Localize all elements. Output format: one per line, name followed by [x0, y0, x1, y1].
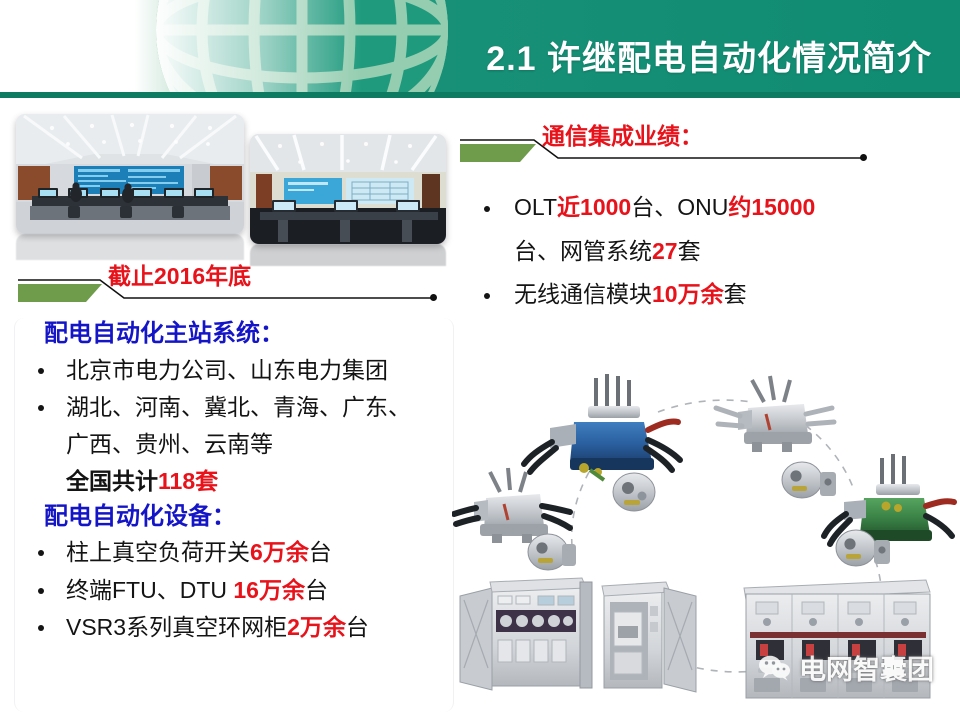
- header-divider-rule: [0, 92, 960, 98]
- equipment-list: 柱上真空负荷开关6万余台 终端FTU、DTU 16万余台 VSR3系列真空环网柜…: [14, 534, 452, 646]
- list-item: 终端FTU、DTU 16万余台: [14, 572, 452, 609]
- text-segment: 台: [346, 614, 369, 640]
- heading-equipment: 配电自动化设备：: [44, 501, 452, 533]
- text-segment: 台、网管系统: [514, 238, 652, 264]
- banner-label-deadline: 截止2016年底: [108, 264, 251, 289]
- globe-graphic: [152, 0, 452, 98]
- highlight-value: 6万余: [250, 539, 309, 565]
- watermark: 电网智囊团: [758, 654, 934, 687]
- list-item-continuation: 广西、贵州、云南等: [14, 426, 452, 463]
- banner-deadline: 截止2016年底: [16, 268, 440, 308]
- banner-label-communication: 通信集成业绩：: [542, 124, 703, 149]
- heading-master-station: 配电自动化主站系统：: [44, 318, 452, 350]
- highlight-value: 10万余: [652, 281, 724, 307]
- banner-endpoint-dot-left: [430, 294, 437, 301]
- text-segment: 全国共计: [66, 468, 158, 494]
- text-segment: 无线通信模块: [514, 281, 652, 307]
- text-segment: 终端FTU、DTU: [66, 577, 233, 603]
- list-item: 北京市电力公司、山东电力集团: [14, 352, 452, 389]
- wechat-icon: [758, 654, 792, 687]
- banner-endpoint-dot-right: [860, 154, 867, 161]
- text-segment: 台: [309, 539, 332, 565]
- equipment-controller-unit-2: [782, 462, 836, 498]
- equipment-controller-unit-1: [613, 473, 655, 511]
- banner-communication: 通信集成业绩：: [458, 128, 870, 168]
- highlight-value: 27: [652, 238, 678, 264]
- page-title: 2.1 许继配电自动化情况简介: [486, 42, 932, 76]
- highlight-value: 16万余: [233, 577, 305, 603]
- text-segment: 台、ONU: [631, 194, 728, 220]
- national-total-line: 全国共计118套: [14, 463, 452, 500]
- watermark-text: 电网智囊团: [799, 657, 934, 684]
- equipment-pole-switch-gray-left: [454, 468, 570, 543]
- highlight-value: 118套: [158, 468, 218, 494]
- equipment-pole-switch-blue: [524, 374, 680, 480]
- list-item: 柱上真空负荷开关6万余台: [14, 534, 452, 571]
- list-item: 无线通信模块10万余套: [458, 273, 950, 317]
- photo-reflection-b: [250, 244, 446, 266]
- text-segment: 台: [305, 577, 328, 603]
- highlight-value: 2万余: [287, 614, 346, 640]
- highlight-value: 约15000: [728, 194, 815, 220]
- list-item-continuation: 台、网管系统27套: [458, 230, 950, 274]
- text-segment: OLT: [514, 194, 557, 220]
- equipment-controller-unit-4: [528, 534, 576, 570]
- photo-control-room-wide: [16, 114, 244, 234]
- highlight-value: 近1000: [557, 194, 631, 220]
- left-content-column: 配电自动化主站系统： 北京市电力公司、山东电力集团 湖北、河南、冀北、青海、广东…: [14, 318, 452, 712]
- right-content-column: OLT近1000台、ONU约15000 台、网管系统27套 无线通信模块10万余…: [458, 186, 950, 317]
- photo-reflection-a: [16, 234, 244, 260]
- photo-control-room-screens: [250, 134, 446, 244]
- list-item: 湖北、河南、冀北、青海、广东、: [14, 389, 452, 426]
- list-item: VSR3系列真空环网柜2万余台: [14, 609, 452, 646]
- equipment-ring-main-cabinet-open: [460, 578, 696, 692]
- slide-root: 2.1 许继配电自动化情况简介: [0, 0, 960, 720]
- photo-group: [16, 112, 446, 262]
- communication-bullet-list: OLT近1000台、ONU约15000 台、网管系统27套 无线通信模块10万余…: [458, 186, 950, 317]
- text-segment: 柱上真空负荷开关: [66, 539, 250, 565]
- list-item: OLT近1000台、ONU约15000: [458, 186, 950, 230]
- master-station-list: 北京市电力公司、山东电力集团 湖北、河南、冀北、青海、广东、 广西、贵州、云南等: [14, 352, 452, 464]
- text-segment: VSR3系列真空环网柜: [66, 614, 287, 640]
- equipment-pole-switch-gray-top: [716, 376, 834, 452]
- text-segment: 套: [724, 281, 747, 307]
- text-segment: 套: [678, 238, 701, 264]
- slide-header: 2.1 许继配电自动化情况简介: [0, 0, 960, 98]
